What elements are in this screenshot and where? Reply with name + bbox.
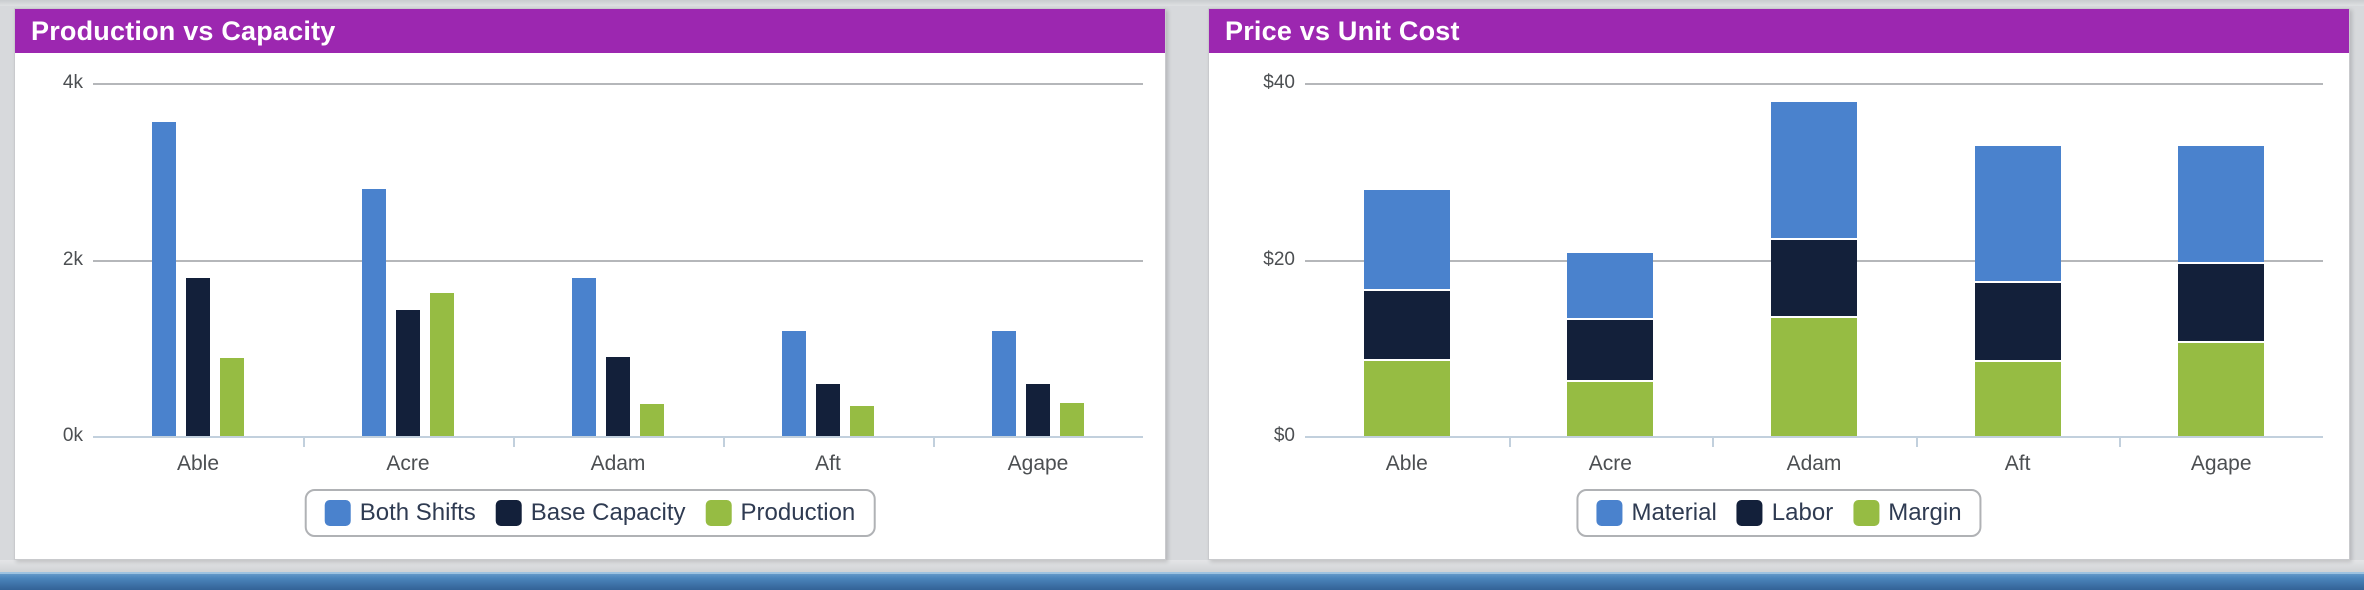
x-axis-tick-label: Able bbox=[1386, 452, 1428, 476]
bar[interactable] bbox=[186, 278, 210, 436]
legend-swatch-icon bbox=[325, 500, 351, 526]
legend-item-label: Production bbox=[741, 499, 856, 527]
x-axis-tick bbox=[1509, 438, 1511, 447]
bar-segment[interactable] bbox=[1364, 190, 1450, 289]
legend-swatch-icon bbox=[1596, 500, 1622, 526]
legend-swatch-icon bbox=[1853, 500, 1879, 526]
panel-title: Price vs Unit Cost bbox=[1209, 9, 2349, 53]
legend-item-label: Material bbox=[1631, 499, 1716, 527]
x-axis-tick bbox=[933, 438, 935, 447]
bar-segment[interactable] bbox=[2178, 146, 2264, 262]
legend-item[interactable]: Labor bbox=[1737, 499, 1833, 527]
plot-area: 0k2k4kAbleAcreAdamAftAgape bbox=[93, 83, 1143, 438]
panel-title: Production vs Capacity bbox=[15, 9, 1165, 53]
x-axis-tick bbox=[1712, 438, 1714, 447]
bar-segment[interactable] bbox=[2178, 343, 2264, 436]
bar-segment[interactable] bbox=[1364, 361, 1450, 436]
legend-item-label: Labor bbox=[1772, 499, 1833, 527]
x-axis-tick bbox=[1916, 438, 1918, 447]
legend-item[interactable]: Material bbox=[1596, 499, 1716, 527]
y-axis-tick-label: $40 bbox=[1263, 72, 1295, 94]
taskbar[interactable] bbox=[0, 572, 2364, 590]
x-axis-tick-label: Acre bbox=[386, 452, 429, 476]
legend-swatch-icon bbox=[1737, 500, 1763, 526]
legend-item[interactable]: Production bbox=[706, 499, 856, 527]
stacked-bar[interactable] bbox=[1771, 83, 1857, 436]
stacked-bar[interactable] bbox=[1975, 83, 2061, 436]
bar-segment[interactable] bbox=[1771, 102, 1857, 239]
bar-segment[interactable] bbox=[2178, 264, 2264, 341]
bar-segment[interactable] bbox=[1567, 253, 1653, 318]
x-axis-tick-label: Aft bbox=[2005, 452, 2031, 476]
y-axis-tick-label: $0 bbox=[1274, 425, 1295, 447]
legend-swatch-icon bbox=[706, 500, 732, 526]
x-axis-tick bbox=[303, 438, 305, 447]
bar-segment[interactable] bbox=[1771, 240, 1857, 316]
bar[interactable] bbox=[782, 331, 806, 436]
bar[interactable] bbox=[992, 331, 1016, 436]
chart-legend[interactable]: Both ShiftsBase CapacityProduction bbox=[305, 489, 876, 537]
bar[interactable] bbox=[816, 384, 840, 436]
bar[interactable] bbox=[572, 278, 596, 436]
bar-segment[interactable] bbox=[1975, 362, 2061, 436]
bar[interactable] bbox=[220, 358, 244, 436]
bar[interactable] bbox=[362, 189, 386, 436]
x-axis-tick bbox=[2119, 438, 2121, 447]
bar[interactable] bbox=[1060, 403, 1084, 436]
x-axis-tick-label: Able bbox=[177, 452, 219, 476]
bar[interactable] bbox=[850, 406, 874, 436]
plot-area: $0$20$40AbleAcreAdamAftAgape bbox=[1305, 83, 2323, 438]
legend-item[interactable]: Margin bbox=[1853, 499, 1961, 527]
legend-item-label: Margin bbox=[1888, 499, 1961, 527]
legend-item-label: Both Shifts bbox=[360, 499, 476, 527]
bar-segment[interactable] bbox=[1567, 382, 1653, 436]
y-axis-tick-label: 0k bbox=[63, 425, 83, 447]
gridline bbox=[93, 83, 1143, 85]
x-axis-line bbox=[93, 436, 1143, 438]
stacked-bar[interactable] bbox=[1364, 83, 1450, 436]
legend-item-label: Base Capacity bbox=[531, 499, 686, 527]
x-axis-line bbox=[1305, 436, 2323, 438]
x-axis-tick-label: Agape bbox=[1008, 452, 1069, 476]
bar[interactable] bbox=[430, 293, 454, 436]
x-axis-tick-label: Adam bbox=[591, 452, 646, 476]
panel-body: $0$20$40AbleAcreAdamAftAgape MaterialLab… bbox=[1209, 53, 2349, 559]
bar-segment[interactable] bbox=[1771, 318, 1857, 436]
x-axis-tick bbox=[723, 438, 725, 447]
desktop-root: Production vs Capacity 0k2k4kAbleAcreAda… bbox=[0, 0, 2364, 590]
x-axis-tick-label: Acre bbox=[1589, 452, 1632, 476]
bar-segment[interactable] bbox=[1567, 320, 1653, 381]
stacked-bar[interactable] bbox=[1567, 83, 1653, 436]
legend-item[interactable]: Base Capacity bbox=[496, 499, 686, 527]
chart-legend[interactable]: MaterialLaborMargin bbox=[1576, 489, 1981, 537]
stacked-bar[interactable] bbox=[2178, 83, 2264, 436]
panel-body: 0k2k4kAbleAcreAdamAftAgape Both ShiftsBa… bbox=[15, 53, 1165, 559]
y-axis-tick-label: 2k bbox=[63, 249, 83, 271]
bar[interactable] bbox=[640, 404, 664, 436]
bar-segment[interactable] bbox=[1364, 291, 1450, 360]
gridline bbox=[93, 260, 1143, 262]
legend-swatch-icon bbox=[496, 500, 522, 526]
x-axis-tick bbox=[513, 438, 515, 447]
bar[interactable] bbox=[606, 357, 630, 436]
chart-panel-production-vs-capacity: Production vs Capacity 0k2k4kAbleAcreAda… bbox=[14, 8, 1166, 560]
x-axis-tick-label: Agape bbox=[2191, 452, 2252, 476]
legend-item[interactable]: Both Shifts bbox=[325, 499, 476, 527]
x-axis-tick-label: Aft bbox=[815, 452, 841, 476]
bar-segment[interactable] bbox=[1975, 283, 2061, 360]
bar-segment[interactable] bbox=[1975, 146, 2061, 281]
chart-price-vs-unit-cost: $0$20$40AbleAcreAdamAftAgape bbox=[1209, 53, 2349, 559]
bar[interactable] bbox=[1026, 384, 1050, 436]
taskbar-highlight bbox=[0, 572, 2364, 574]
bar[interactable] bbox=[152, 122, 176, 436]
bar[interactable] bbox=[396, 310, 420, 436]
x-axis-tick-label: Adam bbox=[1787, 452, 1842, 476]
chart-production-vs-capacity: 0k2k4kAbleAcreAdamAftAgape bbox=[15, 53, 1165, 559]
y-axis-tick-label: $20 bbox=[1263, 249, 1295, 271]
desktop-top-strip bbox=[0, 0, 2364, 6]
y-axis-tick-label: 4k bbox=[63, 72, 83, 94]
chart-panel-price-vs-unit-cost: Price vs Unit Cost $0$20$40AbleAcreAdamA… bbox=[1208, 8, 2350, 560]
